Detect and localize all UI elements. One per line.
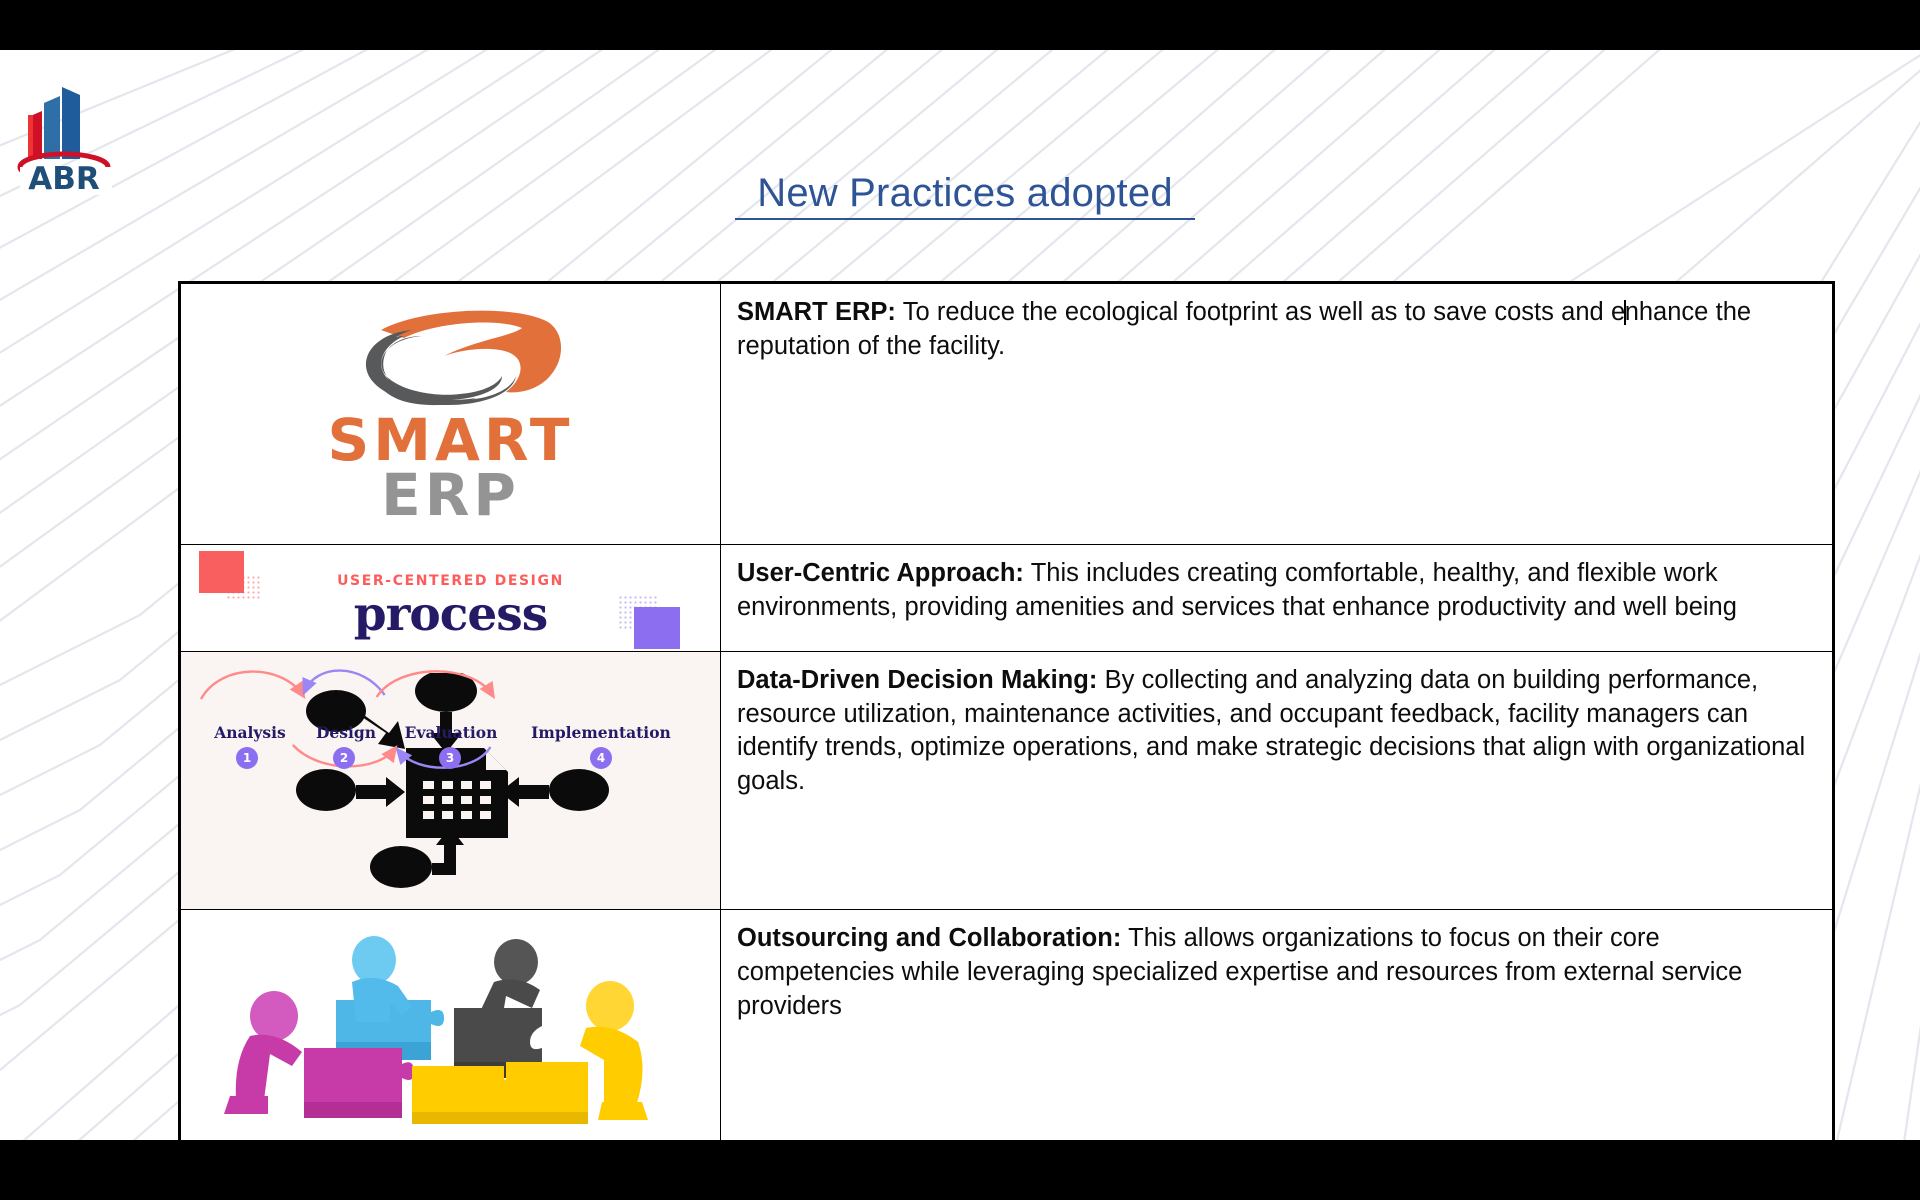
page-title: New Practices adopted	[735, 170, 1195, 220]
letterbox-bottom	[0, 1140, 1920, 1200]
practice-description: Data-Driven Decision Making: By collecti…	[737, 664, 1816, 800]
screen: ABR New Practices adopted	[0, 0, 1920, 1200]
practices-table: SMART ERP SMART ERP: To reduce the ecolo…	[178, 281, 1835, 1140]
row-text-cell: Outsourcing and Collaboration: This allo…	[721, 910, 1833, 1140]
ucd-step-label-4: Implementation	[511, 723, 691, 742]
table-row: SMART ERP SMART ERP: To reduce the ecolo…	[181, 284, 1833, 545]
abr-logo: ABR	[14, 75, 114, 195]
row-image-cell: SMART ERP	[181, 284, 721, 545]
practice-description: SMART ERP: To reduce the ecological foot…	[737, 296, 1816, 364]
practice-heading: Data-Driven Decision Making:	[737, 666, 1097, 694]
ucd-step-label-2: Design	[296, 723, 396, 742]
ucd-bigword: process	[181, 587, 720, 642]
slide-canvas: ABR New Practices adopted	[0, 50, 1920, 1140]
practice-heading: User-Centric Approach:	[737, 559, 1024, 587]
ucd-step-label-1: Analysis	[195, 723, 305, 742]
collaboration-puzzle-figures	[181, 910, 720, 1140]
table-row: USER-CENTERED DESIGN process	[181, 545, 1833, 651]
row-text-cell: SMART ERP: To reduce the ecological foot…	[721, 284, 1833, 545]
row-image-cell	[181, 910, 721, 1140]
row-image-cell: USER-CENTERED DESIGN process	[181, 545, 721, 651]
smart-erp-word2: ERP	[326, 468, 576, 523]
practice-description: Outsourcing and Collaboration: This allo…	[737, 922, 1816, 1024]
smart-erp-logo: SMART ERP	[181, 284, 720, 544]
smart-erp-swoosh-icon	[326, 306, 576, 411]
practice-body-part1: To reduce the ecological footprint as we…	[896, 298, 1625, 326]
practice-heading: SMART ERP:	[737, 298, 896, 326]
ucd-step-label-3: Evaluation	[391, 723, 511, 742]
practice-heading: Outsourcing and Collaboration:	[737, 924, 1121, 952]
abr-logo-text: ABR	[28, 161, 100, 195]
practice-description: User-Centric Approach: This includes cre…	[737, 557, 1816, 625]
smart-erp-word1: SMART	[326, 413, 576, 468]
row-text-cell: Data-Driven Decision Making: By collecti…	[721, 651, 1833, 910]
row-text-cell: User-Centric Approach: This includes cre…	[721, 545, 1833, 651]
table-row: Outsourcing and Collaboration: This allo…	[181, 910, 1833, 1140]
letterbox-top	[0, 0, 1920, 50]
user-centered-design-process-diagram: USER-CENTERED DESIGN process	[181, 545, 720, 650]
